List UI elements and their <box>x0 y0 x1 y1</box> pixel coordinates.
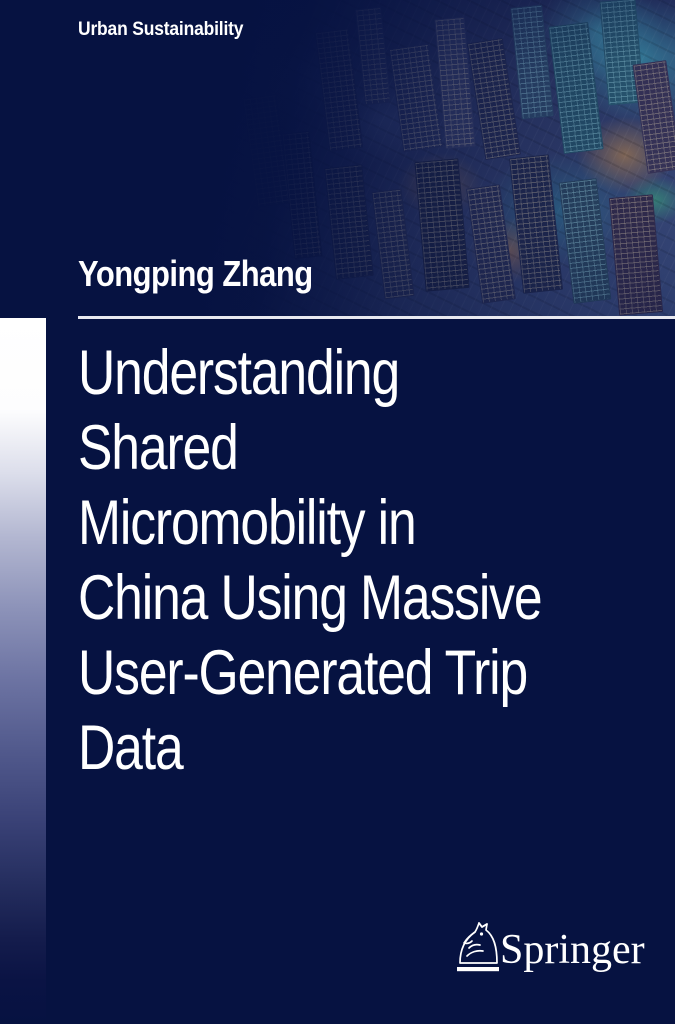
spine-gradient-strip <box>0 318 46 1024</box>
title-divider-rule <box>78 316 675 319</box>
springer-logo: Springer <box>452 918 627 982</box>
book-title-line: Understanding <box>78 336 570 411</box>
book-cover: Urban Sustainability Yongping Zhang Unde… <box>0 0 675 1024</box>
springer-knight-icon <box>452 918 504 976</box>
book-title-line: Data <box>78 711 570 786</box>
book-title-line: China Using Massive <box>78 561 570 636</box>
book-title-line: Shared <box>78 411 570 486</box>
book-title-line: User-Generated Trip <box>78 636 570 711</box>
author-name: Yongping Zhang <box>78 253 313 295</box>
series-title: Urban Sustainability <box>78 19 243 41</box>
book-title: Understanding Shared Micromobility in Ch… <box>78 336 570 786</box>
springer-wordmark: Springer <box>500 926 645 974</box>
book-title-line: Micromobility in <box>78 486 570 561</box>
